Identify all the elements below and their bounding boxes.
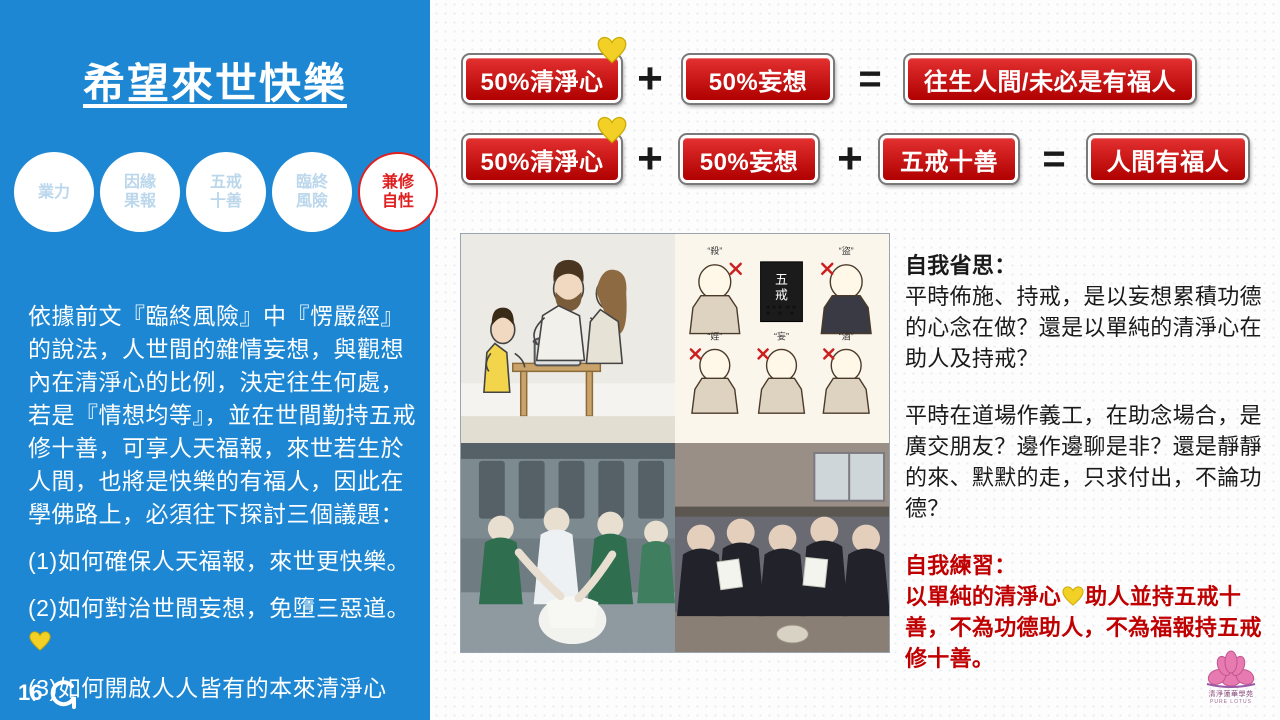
topic-pill-1-label: 業力 — [38, 183, 70, 202]
arc-logo-icon — [48, 680, 78, 710]
right-block-1-title: 自我省思： — [905, 250, 1273, 281]
body-item-3: (3)如何開啟人人皆有的本來清淨心 — [28, 672, 422, 705]
formula-1-operator-plus: + — [628, 56, 672, 102]
formula-2-result[interactable]: 人間有福人 — [1088, 135, 1248, 183]
formula-2-term-3[interactable]: 五戒十善 — [880, 135, 1018, 183]
svg-text:五: 五 — [775, 272, 788, 287]
page-title: 希望來世快樂 — [0, 50, 430, 111]
topic-pill-4[interactable]: 臨終風險 — [272, 152, 352, 232]
left-body-text: 依據前文『臨終風險』中『愣嚴經』的說法，人世間的雜情妄想，與觀想內在清淨心的比例… — [28, 300, 422, 709]
svg-text:“婬”: “婬” — [707, 330, 722, 341]
collage-image-volunteers — [461, 443, 675, 652]
heart-icon — [29, 630, 51, 652]
page-number: 16 — [18, 680, 42, 706]
logo-name: 清淨蓮華學苑 — [1198, 690, 1264, 699]
right-block-1-body: 平時佈施、持戒，是以妄想累積功德的心念在做？還是以單純的清淨心在助人及持戒？ — [905, 281, 1273, 374]
right-block-1: 自我省思： 平時佈施、持戒，是以妄想累積功德的心念在做？還是以單純的清淨心在助人… — [905, 250, 1273, 374]
svg-text:“殺”: “殺” — [707, 245, 722, 256]
lotus-icon — [1203, 650, 1259, 690]
right-commentary: 自我省思： 平時佈施、持戒，是以妄想累積功德的心念在做？還是以單純的清淨心在助人… — [905, 250, 1273, 700]
right-block-3-title: 自我練習： — [905, 550, 1273, 581]
formula-2-operator-plus-1: + — [628, 136, 672, 182]
svg-text:“妄”: “妄” — [774, 330, 789, 341]
slide-canvas: 希望來世快樂 業力 因緣果報 五戒十善 臨終風險 — [0, 0, 1280, 720]
formula-2-term-2[interactable]: 50%妄想 — [680, 135, 818, 183]
collage-image-cartoon-kitchen — [461, 234, 675, 443]
topic-pill-5-label: 兼修自性 — [382, 173, 414, 211]
topic-pill-2[interactable]: 因緣果報 — [100, 152, 180, 232]
formula-2-operator-equals: = — [1030, 137, 1078, 181]
formula-2-operator-plus-2: + — [828, 136, 872, 182]
body-item-1: (1)如何確保人天福報，來世更快樂。 — [28, 545, 422, 578]
topic-pill-4-label: 臨終風險 — [296, 173, 328, 211]
organization-logo: 清淨蓮華學苑 PURE LOTUS — [1198, 650, 1264, 712]
heart-icon-right — [1062, 585, 1084, 607]
topic-pill-row: 業力 因緣果報 五戒十善 臨終風險 兼修自性 — [8, 152, 428, 244]
formula-1-term-2[interactable]: 50%妄想 — [683, 55, 833, 103]
topic-pill-3-label: 五戒十善 — [210, 173, 242, 211]
collage-image-chanting-hall — [675, 443, 889, 652]
heart-icon-formula-2 — [597, 116, 627, 144]
svg-text:戒: 戒 — [775, 288, 788, 303]
logo-subtitle: PURE LOTUS — [1198, 699, 1264, 705]
topic-pill-3[interactable]: 五戒十善 — [186, 152, 266, 232]
left-blue-panel: 希望來世快樂 業力 因緣果報 五戒十善 臨終風險 — [0, 0, 430, 720]
topic-pill-5-active[interactable]: 兼修自性 — [358, 152, 438, 232]
right-block-2: 平時在道場作義工，在助念場合，是廣交朋友？邊作邊聊是非？還是靜靜的來、默默的走，… — [905, 400, 1273, 524]
collage-image-monk-stickers: 五 戒 “殺” “盜 — [675, 234, 889, 443]
heart-icon-formula-1 — [597, 36, 627, 64]
body-item-2: (2)如何對治世間妄想，免墮三惡道。 — [28, 592, 422, 658]
svg-text:“酒”: “酒” — [839, 331, 854, 341]
body-paragraph: 依據前文『臨終風險』中『愣嚴經』的說法，人世間的雜情妄想，與觀想內在清淨心的比例… — [28, 300, 422, 531]
formula-1-result[interactable]: 往生人間/未必是有福人 — [905, 55, 1195, 103]
topic-pill-2-label: 因緣果報 — [124, 173, 156, 211]
svg-text:“盜”: “盜” — [839, 245, 854, 256]
right-block-2-body: 平時在道場作義工，在助念場合，是廣交朋友？邊作邊聊是非？還是靜靜的來、默默的走，… — [905, 400, 1273, 524]
topic-pill-1[interactable]: 業力 — [14, 152, 94, 232]
right-block-3-body-a: 以單純的清淨心 — [905, 584, 1061, 609]
formula-1-operator-equals: = — [846, 57, 894, 101]
photo-collage: 五 戒 “殺” “盜 — [460, 233, 890, 653]
